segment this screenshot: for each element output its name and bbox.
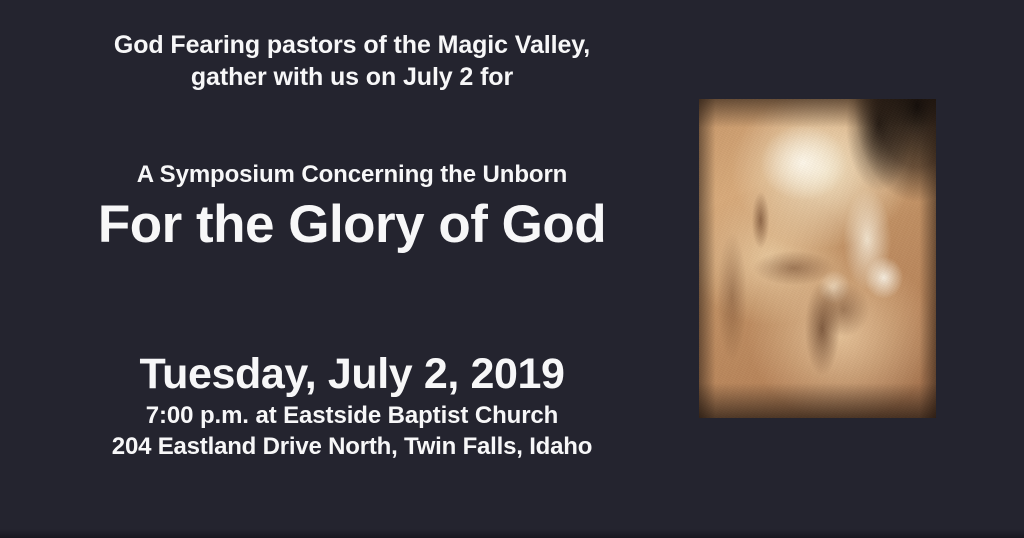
ultrasound-vignette-layer <box>699 99 936 418</box>
event-time-venue: 7:00 p.m. at Eastside Baptist Church <box>0 400 704 431</box>
event-date: Tuesday, July 2, 2019 <box>0 348 704 400</box>
title-block: A Symposium Concerning the Unborn For th… <box>0 160 704 258</box>
event-headline: For the Glory of God <box>0 192 704 258</box>
details-block: Tuesday, July 2, 2019 7:00 p.m. at Easts… <box>0 348 704 462</box>
event-address: 204 Eastland Drive North, Twin Falls, Id… <box>0 431 704 462</box>
event-kicker: A Symposium Concerning the Unborn <box>0 160 704 190</box>
text-column: God Fearing pastors of the Magic Valley,… <box>0 0 704 538</box>
intro-line-2: gather with us on July 2 for <box>0 61 704 93</box>
intro-block: God Fearing pastors of the Magic Valley,… <box>0 29 704 93</box>
ultrasound-photo <box>699 99 936 418</box>
intro-line-1: God Fearing pastors of the Magic Valley, <box>0 29 704 61</box>
announcement-slide: God Fearing pastors of the Magic Valley,… <box>0 0 1024 538</box>
